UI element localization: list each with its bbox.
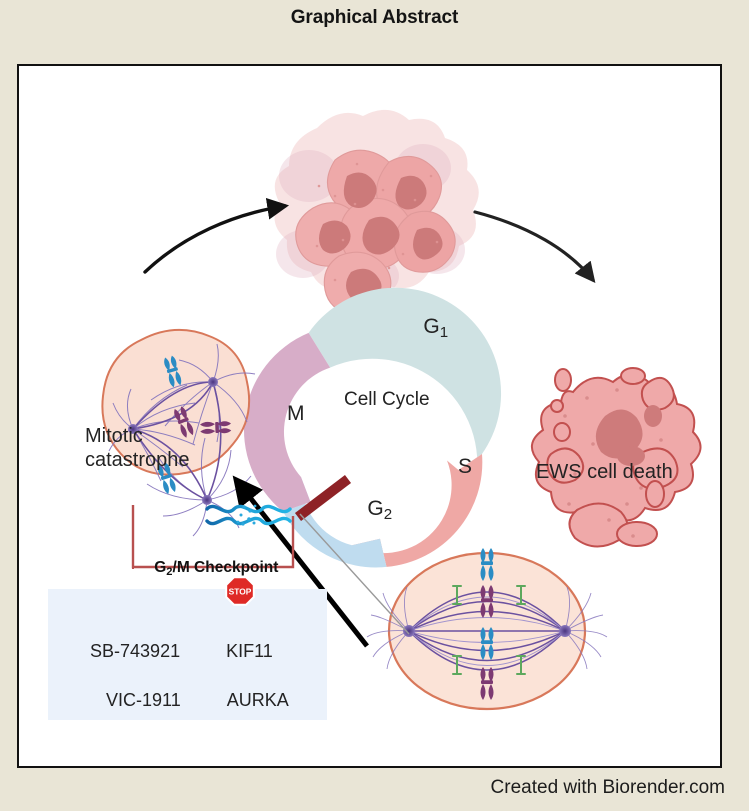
drug-target-box (48, 589, 327, 720)
dna-helix-icon (207, 505, 290, 526)
cell-cycle-ring (244, 288, 501, 568)
cell-cycle-segment-m[interactable] (244, 333, 330, 512)
stop-sign-icon: STOP (224, 575, 256, 607)
mitotic-catastrophe-cell (102, 330, 255, 536)
graphical-abstract-figure: Graphical Abstract (0, 0, 749, 811)
arrow-to-tumor-cluster (145, 206, 285, 272)
arrow-to-cell-death (475, 212, 593, 280)
biorender-credit: Created with Biorender.com (491, 777, 725, 799)
ews-cell-death-cell (532, 368, 701, 547)
tumor-cell-cluster (275, 110, 479, 315)
metaphase-spindle-cell (367, 548, 607, 709)
stop-sign-text: STOP (229, 587, 252, 597)
page-title: Graphical Abstract (0, 7, 749, 29)
